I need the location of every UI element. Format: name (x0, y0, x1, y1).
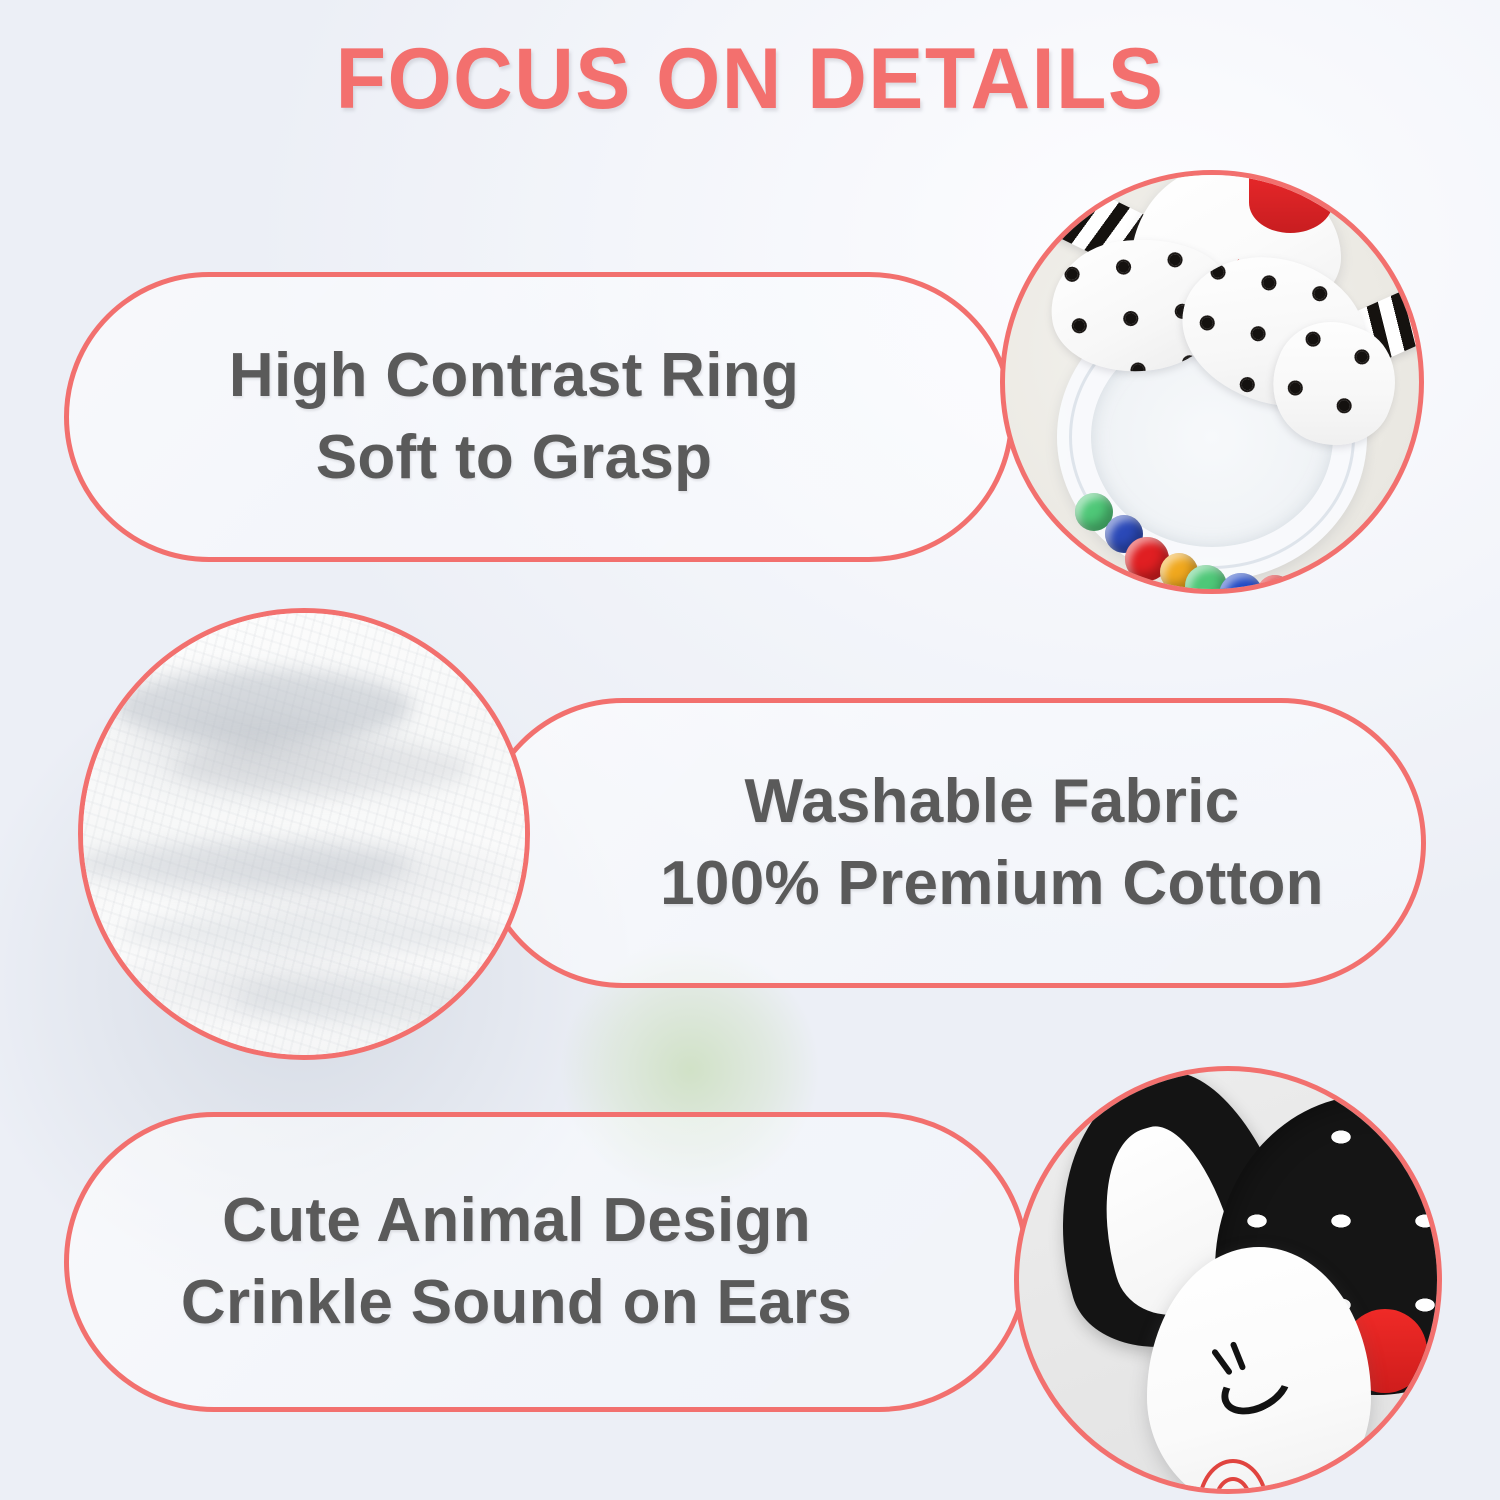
page-title: FOCUS ON DETAILS (30, 36, 1470, 122)
feature-1-line-1: High Contrast Ring (159, 335, 869, 417)
feature-card-high-contrast-ring: High Contrast Ring Soft to Grasp (64, 272, 1014, 562)
rattle-bead (1286, 571, 1328, 594)
fabric-fold (123, 913, 503, 953)
feature-1-photo-teething-ring (1000, 170, 1424, 594)
fabric-fold (78, 841, 413, 887)
infographic-canvas: FOCUS ON DETAILS High Contrast Ring Soft… (0, 0, 1500, 1500)
feature-3-photo-cat-toy (1014, 1066, 1442, 1494)
feature-3-line-1: Cute Animal Design (159, 1180, 874, 1262)
cat-toy-illustration (1019, 1071, 1437, 1489)
feature-3-line-2: Crinkle Sound on Ears (159, 1262, 874, 1344)
feature-2-photo-plush-fabric (78, 608, 530, 1060)
fabric-fold (173, 741, 473, 795)
fabric-fold (233, 979, 530, 1023)
feature-card-cute-animal-design: Cute Animal Design Crinkle Sound on Ears (64, 1112, 1029, 1412)
feature-2-line-2: 100% Premium Cotton (633, 843, 1351, 925)
plush-fabric-texture (83, 613, 525, 1055)
fabric-fold (113, 669, 413, 743)
feature-card-washable-fabric: Washable Fabric 100% Premium Cotton (478, 698, 1426, 988)
teething-ring-illustration (1005, 175, 1419, 589)
feature-1-line-2: Soft to Grasp (159, 417, 869, 499)
feature-2-line-1: Washable Fabric (633, 761, 1351, 843)
